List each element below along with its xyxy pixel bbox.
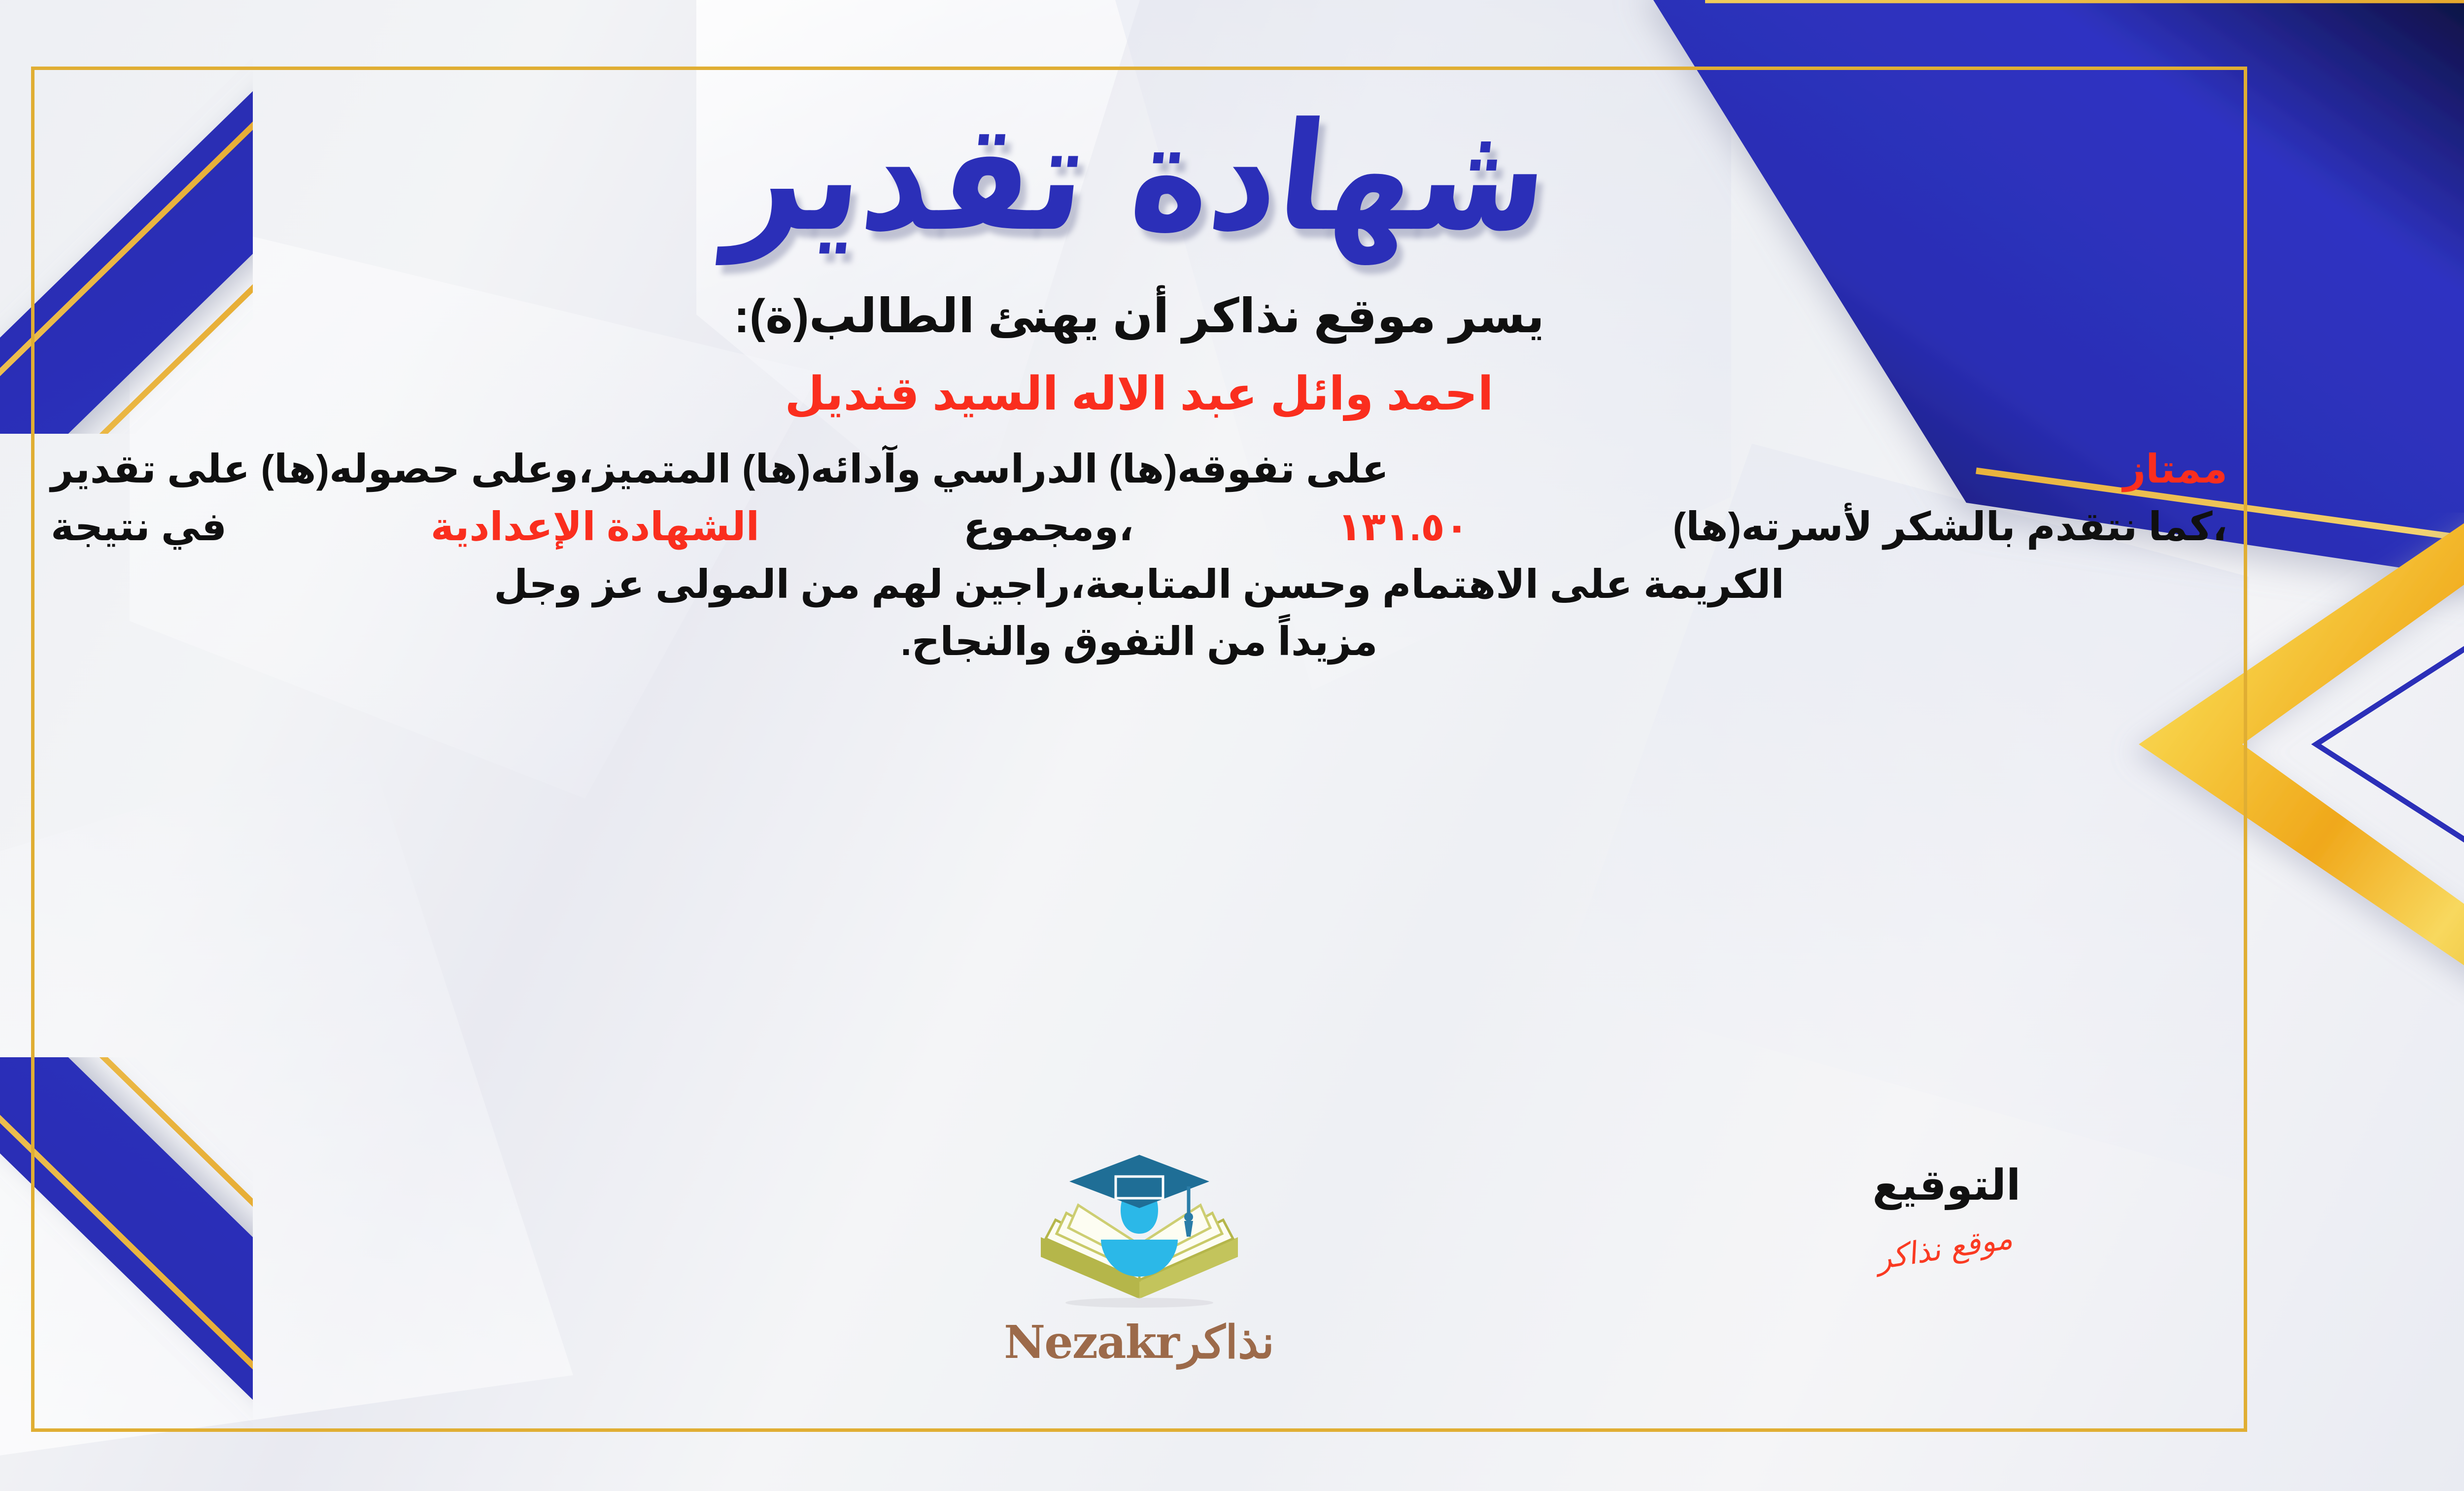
- body-line-4: مزيداً من التفوق والنجاح.: [46, 613, 2232, 671]
- body-line-2: ،كما نتقدم بالشكر لأسرته(ها) ١٣١.٥٠ ،ومج…: [46, 498, 2232, 556]
- certificate-content: شهادة تقدير يسر موقع نذاكر أن يهنئ الطال…: [46, 74, 2232, 1422]
- body-line-1-text: على تفوقه(ها) الدراسي وآدائه(ها) المتميز…: [51, 441, 1389, 498]
- student-name: احمد وائل عبد الاله السيد قنديل: [785, 367, 1493, 421]
- brand-logo: نذاكرNezakr: [962, 1151, 1317, 1369]
- grade-value: ممتاز: [2123, 441, 2227, 498]
- body-line-1: ممتاز على تفوقه(ها) الدراسي وآدائه(ها) ا…: [46, 441, 2232, 498]
- intro-line: يسر موقع نذاكر أن يهنئ الطالب(ة):: [734, 288, 1544, 344]
- certificate-canvas: شهادة تقدير يسر موقع نذاكر أن يهنئ الطال…: [0, 0, 2464, 1491]
- graduation-book-icon: [1026, 1151, 1253, 1314]
- certificate-body: ممتاز على تفوقه(ها) الدراسي وآدائه(ها) ا…: [46, 441, 2232, 671]
- body-line-2-tail: ،كما نتقدم بالشكر لأسرته(ها): [1673, 498, 2227, 556]
- body-line-3: الكريمة على الاهتمام وحسن المتابعة،راجين…: [46, 556, 2232, 614]
- signature-label: التوقيع: [1809, 1161, 2085, 1210]
- brand-name: نذاكرNezakr: [962, 1316, 1317, 1369]
- certificate-footer: التوقيع موقع نذاكر: [46, 1151, 2232, 1407]
- certificate-title: شهادة تقدير: [723, 103, 1556, 252]
- signature-mark: موقع نذاكر: [1878, 1218, 2016, 1277]
- total-score: ١٣١.٥٠: [1337, 498, 1469, 556]
- exam-name: الشهادة الإعدادية: [431, 498, 759, 556]
- title-wrapper: شهادة تقدير: [46, 94, 2232, 261]
- signature-block: التوقيع موقع نذاكر: [1809, 1161, 2085, 1266]
- body-line-2-mid: ،ومجموع: [963, 498, 1134, 556]
- body-line-2-head: في نتيجة: [51, 498, 227, 556]
